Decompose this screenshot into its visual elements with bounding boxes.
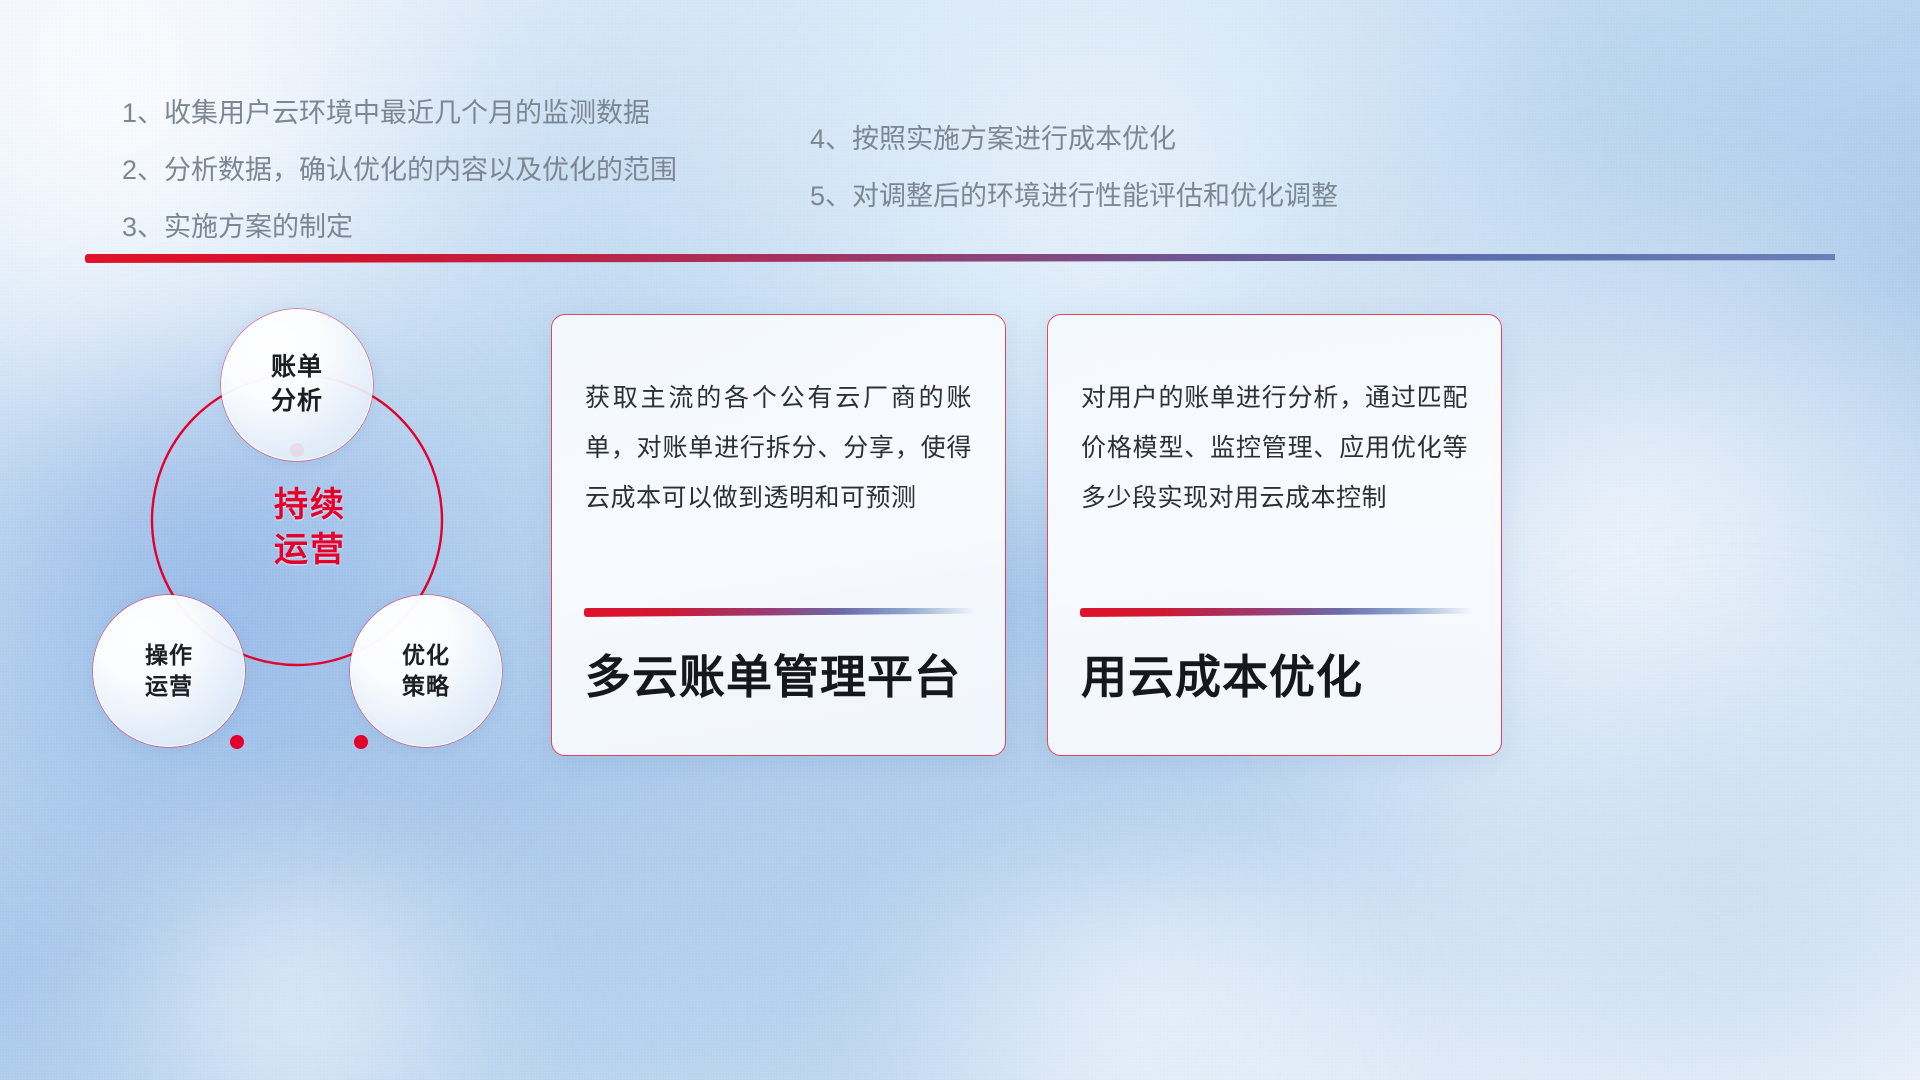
feature-card-title: 多云账单管理平台 [585,641,961,707]
feature-card-body: 对用户的账单进行分析，通过匹配价格模型、监控管理、应用优化等多少段实现对用云成本… [1081,373,1468,523]
feature-card-divider-bar [1080,608,1472,617]
venn-center-line2: 运营 [75,528,545,573]
venn-bubble-label-line1: 优化 [402,640,450,671]
slide-stage: 1、收集用户云环境中最近几个月的监测数据 2、分析数据，确认优化的内容以及优化的… [0,0,1920,1080]
venn-bubble-label-line2: 分析 [271,385,323,419]
venn-bubble-billing-analysis[interactable]: 账单 分析 [221,309,373,461]
venn-diagram: 账单 分析 操作 运营 优化 策略 持续 运营 [75,295,545,775]
feature-card-divider-bar [584,608,976,617]
step-item-3: 3、实施方案的制定 [122,214,677,241]
venn-center-line1: 持续 [75,483,545,528]
step-item-5: 5、对调整后的环境进行性能评估和优化调整 [810,183,1338,210]
step-item-4: 4、按照实施方案进行成本优化 [810,126,1338,153]
venn-center-label: 持续 运营 [75,483,545,573]
feature-card-title: 用云成本优化 [1081,641,1363,707]
section-divider [85,254,1835,263]
step-item-1: 1、收集用户云环境中最近几个月的监测数据 [122,100,677,127]
venn-bubble-label-line2: 运营 [145,671,193,702]
feature-card-multicloud-billing[interactable]: 获取主流的各个公有云厂商的账单，对账单进行拆分、分享，使得云成本可以做到透明和可… [551,314,1006,756]
venn-bubble-label-line2: 策略 [402,671,450,702]
feature-card-divider [1080,608,1472,617]
steps-left-column: 1、收集用户云环境中最近几个月的监测数据 2、分析数据，确认优化的内容以及优化的… [122,100,677,271]
steps-right-column: 4、按照实施方案进行成本优化 5、对调整后的环境进行性能评估和优化调整 [810,126,1338,240]
venn-bubble-operations[interactable]: 操作 运营 [93,595,245,747]
feature-card-divider [584,608,976,617]
step-item-2: 2、分析数据，确认优化的内容以及优化的范围 [122,157,677,184]
venn-bubble-optimization-strategy[interactable]: 优化 策略 [350,595,502,747]
venn-node-dot-right [354,735,368,749]
venn-node-dot-left [230,735,244,749]
feature-card-cost-optimization[interactable]: 对用户的账单进行分析，通过匹配价格模型、监控管理、应用优化等多少段实现对用云成本… [1047,314,1502,756]
venn-bubble-label-line1: 账单 [271,351,323,385]
section-divider-bar [85,254,1835,263]
feature-card-body: 获取主流的各个公有云厂商的账单，对账单进行拆分、分享，使得云成本可以做到透明和可… [585,373,972,523]
venn-bubble-label-line1: 操作 [145,640,193,671]
